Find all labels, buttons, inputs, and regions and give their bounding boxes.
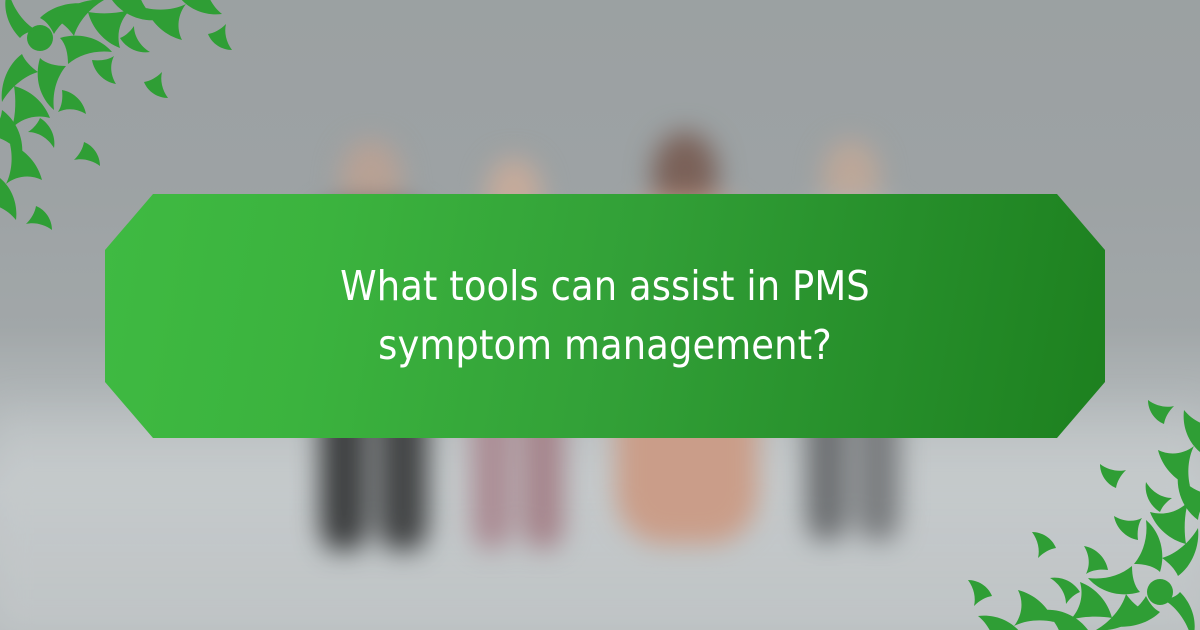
social-card: What tools can assist in PMS symptom man… <box>0 0 1200 630</box>
title-banner: What tools can assist in PMS symptom man… <box>105 194 1105 438</box>
page-title: What tools can assist in PMS symptom man… <box>215 257 995 376</box>
